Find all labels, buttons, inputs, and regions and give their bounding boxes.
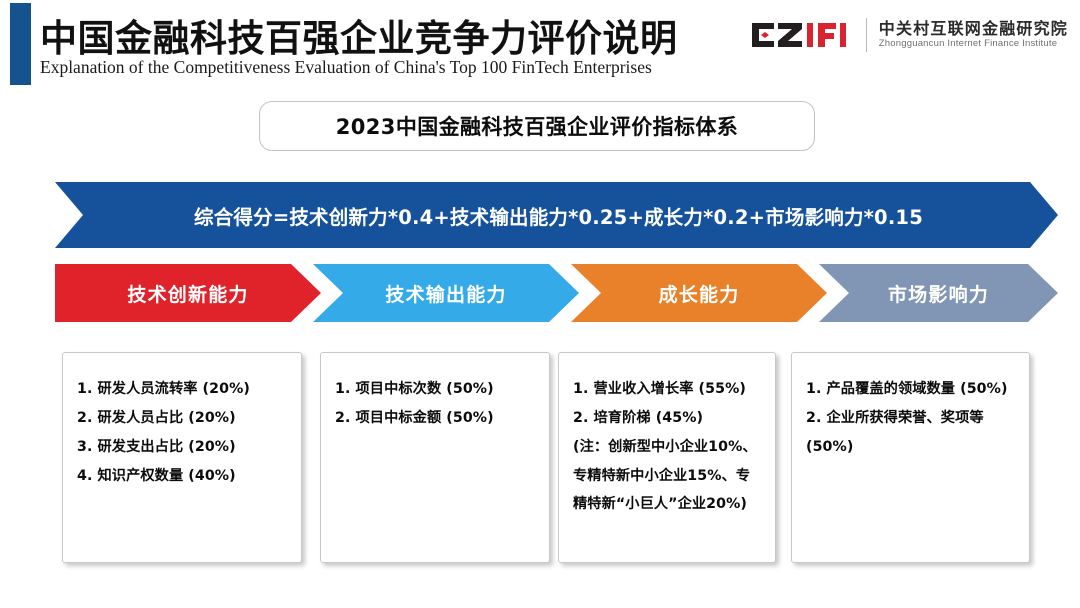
composite-score-formula-text: 综合得分=技术创新力*0.4+技术输出能力*0.25+成长力*0.2+市场影响力… (190, 201, 923, 230)
page-title-en: Explanation of the Competitiveness Evalu… (40, 57, 652, 78)
dimension-chevron-tech-innovation[interactable]: 技术创新能力 (55, 264, 321, 322)
dimension-chevron-tech-output[interactable]: 技术输出能力 (313, 264, 579, 322)
indicator-system-title-label: 2023中国金融科技百强企业评价指标体系 (336, 111, 738, 141)
dimension-chevron-market-influence[interactable]: 市场影响力 (819, 264, 1058, 322)
indicator-card-growth: 1. 营业收入增长率 (55%) 2. 培育阶梯 (45%) (注：创新型中小企… (558, 352, 776, 563)
indicator-item: 2. 研发人员占比 (20%) (77, 404, 289, 433)
dimension-label: 市场影响力 (888, 280, 989, 307)
czifi-wordmark-icon (750, 20, 854, 50)
slide-header: 中国金融科技百强企业竞争力评价说明 Explanation of the Com… (0, 0, 1080, 88)
dimension-chevron-growth[interactable]: 成长能力 (571, 264, 827, 322)
dimension-label: 成长能力 (659, 280, 740, 307)
indicator-item: 4. 知识产权数量 (40%) (77, 462, 289, 491)
indicator-note-line: 精特新“小巨人”企业20%) (573, 490, 763, 518)
institute-logo: 中关村互联网金融研究院 Zhongguancun Internet Financ… (750, 12, 1068, 58)
indicator-system-title: 2023中国金融科技百强企业评价指标体系 (259, 101, 815, 151)
slide-canvas: 中国金融科技百强企业竞争力评价说明 Explanation of the Com… (0, 0, 1080, 608)
indicator-item: 1. 研发人员流转率 (20%) (77, 375, 289, 404)
composite-score-formula-banner: 综合得分=技术创新力*0.4+技术输出能力*0.25+成长力*0.2+市场影响力… (55, 182, 1058, 248)
logo-name-en: Zhongguancun Internet Finance Institute (879, 38, 1068, 50)
indicator-item: 1. 产品覆盖的领域数量 (50%) (806, 375, 1017, 404)
indicator-card-market-influence: 1. 产品覆盖的领域数量 (50%) 2. 企业所获得荣誉、奖项等 (50%) (791, 352, 1030, 563)
indicator-item: 1. 项目中标次数 (50%) (335, 375, 537, 404)
indicator-item: 2. 培育阶梯 (45%) (573, 404, 763, 433)
header-accent-bar (10, 3, 31, 85)
indicator-item: 2. 企业所获得荣誉、奖项等 (806, 404, 1017, 433)
logo-name-zh: 中关村互联网金融研究院 (879, 20, 1068, 38)
dimension-chevron-row: 技术创新能力 技术输出能力 成长能力 市场影响力 (55, 264, 1058, 322)
indicator-item: 2. 项目中标金额 (50%) (335, 404, 537, 433)
logo-divider (866, 18, 867, 52)
page-title-zh: 中国金融科技百强企业竞争力评价说明 (40, 8, 678, 62)
dimension-label: 技术创新能力 (127, 280, 248, 307)
dimension-label: 技术输出能力 (385, 280, 506, 307)
indicator-item: (50%) (806, 433, 1017, 462)
indicator-card-tech-innovation: 1. 研发人员流转率 (20%) 2. 研发人员占比 (20%) 3. 研发支出… (62, 352, 302, 563)
indicator-item: 1. 营业收入增长率 (55%) (573, 375, 763, 404)
indicator-card-tech-output: 1. 项目中标次数 (50%) 2. 项目中标金额 (50%) (320, 352, 550, 563)
indicator-item: 3. 研发支出占比 (20%) (77, 433, 289, 462)
indicator-card-row: 1. 研发人员流转率 (20%) 2. 研发人员占比 (20%) 3. 研发支出… (0, 352, 1080, 567)
indicator-note-line: (注：创新型中小企业10%、 (573, 433, 763, 461)
indicator-note-line: 专精特新中小企业15%、专 (573, 462, 763, 490)
